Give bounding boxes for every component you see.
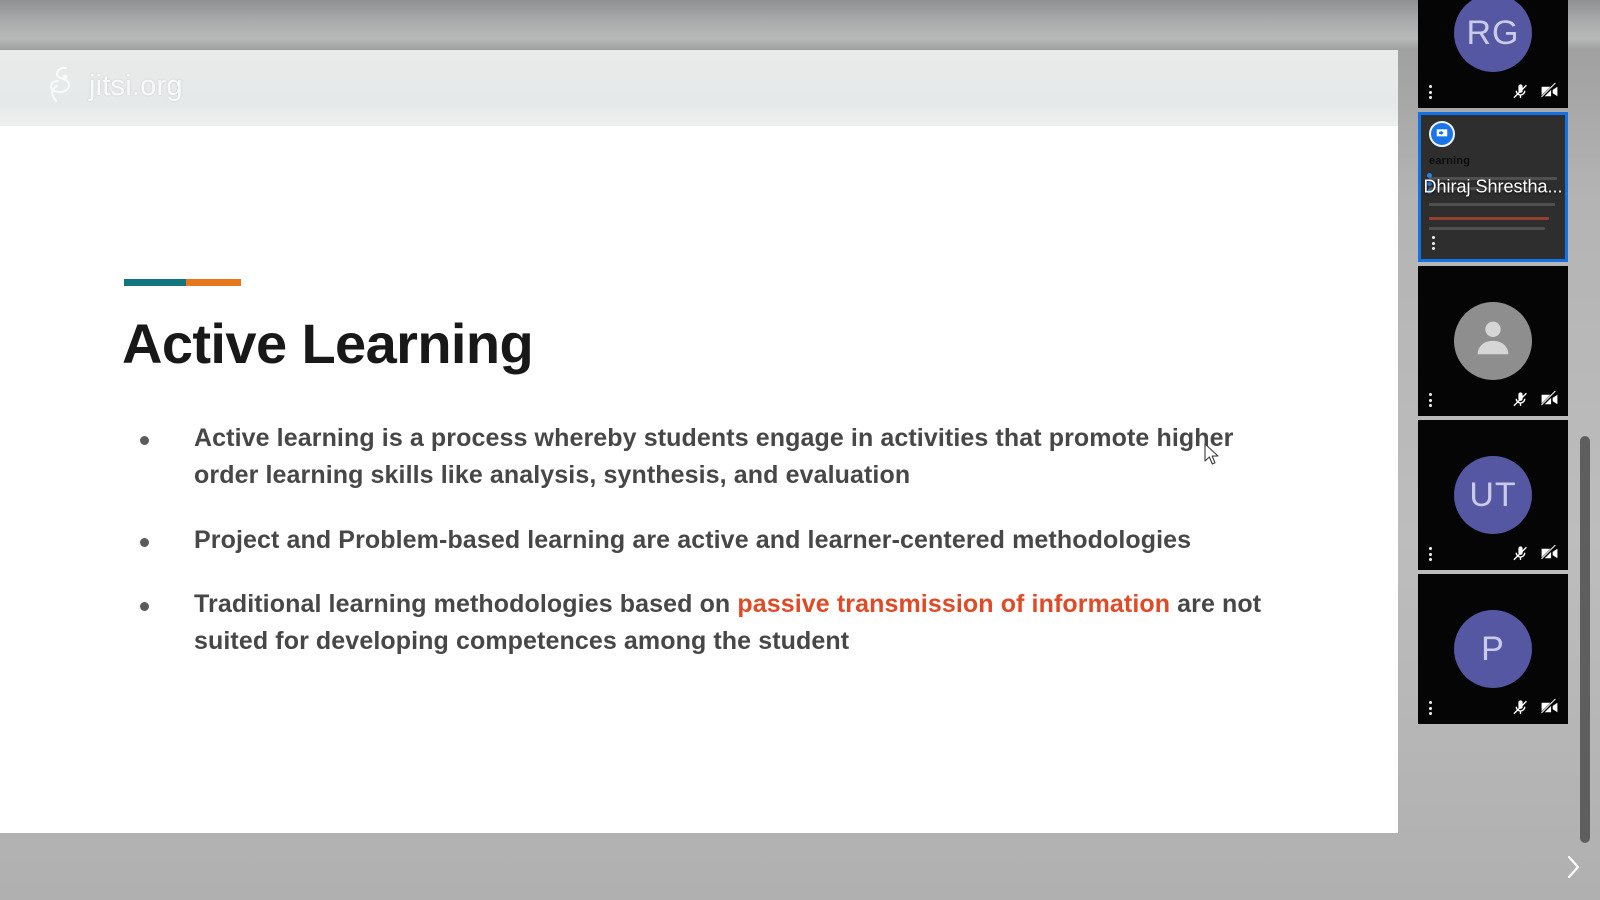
camera-off-icon (1540, 83, 1559, 100)
list-item: Active learning is a process whereby stu… (140, 420, 1320, 495)
tile-status-icons (1512, 699, 1559, 716)
participant-name-label: Dhiraj Shrestha... (1423, 177, 1562, 198)
camera-off-icon (1540, 391, 1559, 408)
mic-muted-icon (1512, 83, 1529, 100)
more-options-icon[interactable] (1432, 236, 1435, 250)
preview-title: earning (1429, 155, 1470, 167)
participants-filmstrip[interactable]: RG earning (1418, 0, 1568, 843)
tile-status-icons (1512, 83, 1559, 100)
preview-line (1429, 217, 1549, 220)
mic-muted-icon (1512, 699, 1529, 716)
accent-bar-orange (186, 279, 241, 286)
mic-muted-icon (1512, 545, 1529, 562)
arrow-cursor (1204, 443, 1222, 467)
chevron-right-icon[interactable] (1556, 850, 1590, 884)
list-item: Traditional learning methodologies based… (140, 586, 1320, 661)
jitsi-watermark: jitsi.org (44, 64, 183, 109)
slide-bullet-list: Active learning is a process whereby stu… (140, 420, 1320, 660)
list-item: Project and Problem-based learning are a… (140, 522, 1320, 559)
mic-muted-icon (1512, 391, 1529, 408)
bullet-dot-icon (140, 436, 149, 445)
slide-accent-bar (124, 279, 241, 286)
person-icon (1470, 314, 1516, 369)
slide-header-band: jitsi.org (0, 50, 1398, 126)
scrollbar-thumb[interactable] (1580, 436, 1590, 843)
camera-off-icon (1540, 545, 1559, 562)
more-options-icon[interactable] (1429, 701, 1432, 715)
screen-share-icon (1429, 121, 1455, 147)
filmstrip-scrollbar[interactable] (1577, 0, 1593, 843)
shared-screen-surface[interactable]: jitsi.org Active Learning Active learnin… (0, 50, 1398, 833)
participant-tile[interactable]: UT (1418, 420, 1568, 570)
participant-tile[interactable] (1418, 266, 1568, 416)
accent-bar-teal (124, 279, 186, 286)
avatar-initials: RG (1467, 14, 1520, 53)
avatar: UT (1454, 456, 1532, 534)
top-chrome-band (0, 0, 1600, 50)
preview-line (1429, 227, 1545, 230)
tile-status-icons (1512, 391, 1559, 408)
bullet-text: Project and Problem-based learning are a… (194, 522, 1191, 559)
avatar: RG (1454, 0, 1532, 72)
avatar-initials: P (1481, 630, 1505, 669)
jitsi-watermark-text: jitsi.org (89, 70, 183, 103)
tile-status-icons (1512, 545, 1559, 562)
participant-tile[interactable]: RG (1418, 0, 1568, 108)
page-title: Active Learning (122, 315, 533, 374)
bullet-text: Traditional learning methodologies based… (194, 586, 1284, 661)
jitsi-logo-icon (44, 64, 78, 109)
more-options-icon[interactable] (1429, 393, 1432, 407)
more-options-icon[interactable] (1429, 547, 1432, 561)
preview-line (1429, 203, 1555, 206)
bullet-dot-icon (140, 602, 149, 611)
avatar-initials: UT (1469, 476, 1516, 515)
participant-tile[interactable]: P (1418, 574, 1568, 724)
bullet-text: Active learning is a process whereby stu… (194, 420, 1284, 495)
avatar (1454, 302, 1532, 380)
slide-body: Active Learning Active learning is a pro… (0, 126, 1398, 833)
more-options-icon[interactable] (1429, 85, 1432, 99)
meeting-stage: jitsi.org Active Learning Active learnin… (0, 0, 1600, 900)
bullet-highlight: passive transmission of information (737, 590, 1170, 618)
bullet-dot-icon (140, 538, 149, 547)
participant-tile-active[interactable]: earning Dhiraj Shrestha... (1418, 112, 1568, 262)
camera-off-icon (1540, 699, 1559, 716)
avatar: P (1454, 610, 1532, 688)
